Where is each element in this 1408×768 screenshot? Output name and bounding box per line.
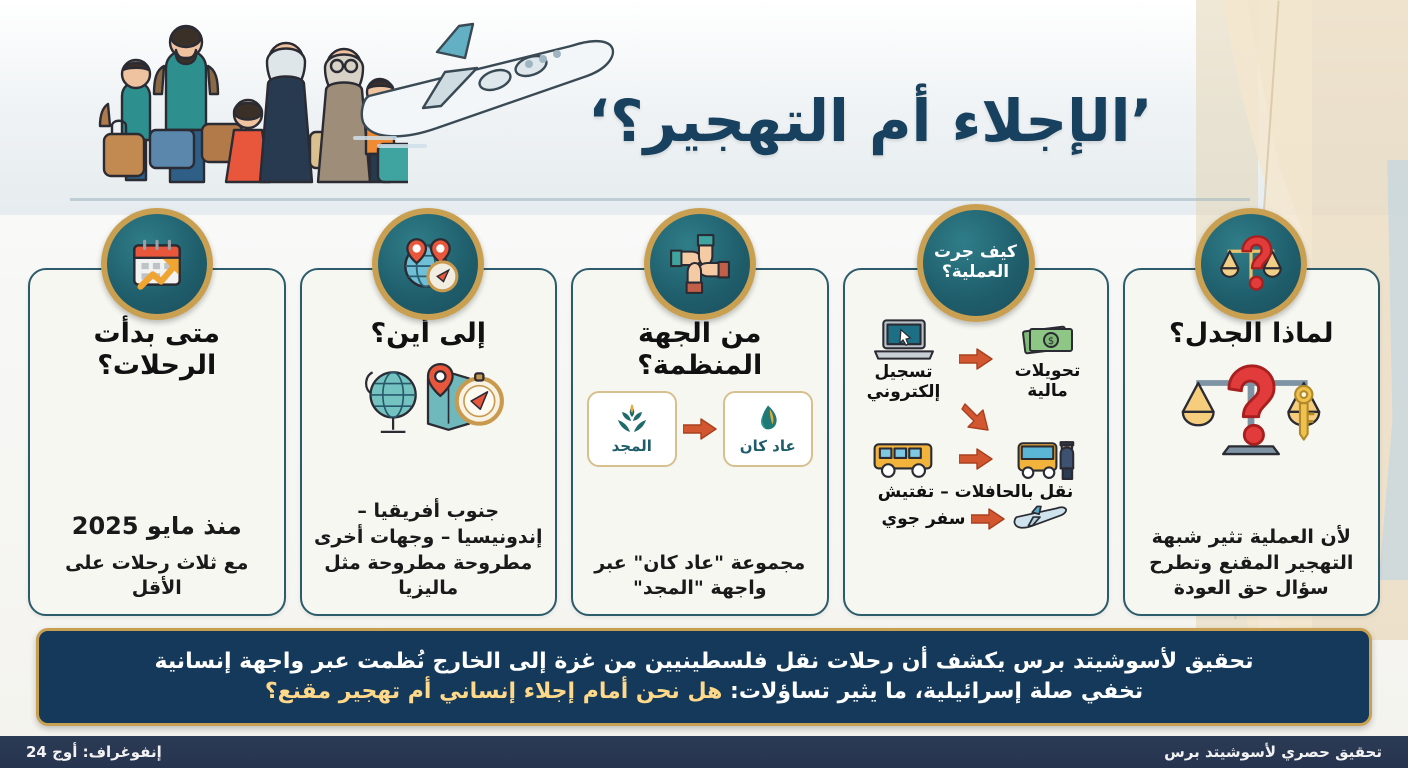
airplane-icon bbox=[1011, 504, 1069, 534]
four-hands-teamwork-icon bbox=[644, 208, 756, 320]
scales-question-key-icon bbox=[1167, 360, 1335, 460]
card-when-flights-started[interactable]: متى بدأت الرحلات؟ منذ مايو 2025 مع ثلاث … bbox=[28, 268, 286, 616]
horizon-line bbox=[70, 198, 1250, 201]
calendar-growth-icon bbox=[101, 208, 213, 320]
organizer-logos: المجد عاد كان bbox=[587, 391, 813, 467]
card-title: متى بدأت الرحلات؟ bbox=[40, 318, 274, 383]
card-organizer[interactable]: من الجهة المنظمة؟ المجد bbox=[571, 268, 829, 616]
flow-row-2 bbox=[855, 438, 1097, 480]
arrow-right-icon bbox=[959, 448, 993, 470]
process-badge: كيف جرت العملية؟ bbox=[917, 204, 1035, 322]
flow-row-1: تسجيل إلكتروني $ bbox=[855, 316, 1097, 402]
infographic-canvas: ’الإجلاء أم التهجير؟‘ متى بدأت الرحلات؟ … bbox=[0, 0, 1408, 768]
flow-row-4: سفر جوي bbox=[855, 504, 1097, 534]
flow-step-bus bbox=[855, 438, 953, 480]
page-title: ’الإجلاء أم التهجير؟‘ bbox=[588, 87, 1328, 155]
card-body: مجموعة "عاد كان" عبر واجهة "المجد" bbox=[583, 551, 817, 602]
globe-map-compass-icon bbox=[344, 360, 512, 442]
card-body: لأن العملية تثير شبهة التهجير المقنع وتط… bbox=[1135, 525, 1369, 602]
laptop-cursor-icon bbox=[873, 316, 935, 362]
scales-question-mark-icon bbox=[1195, 208, 1307, 320]
money-banknotes-icon: $ bbox=[1017, 317, 1079, 361]
arrow-right-icon bbox=[683, 418, 717, 440]
card-title: من الجهة المنظمة؟ bbox=[583, 318, 817, 383]
process-flow: تسجيل إلكتروني $ bbox=[855, 316, 1097, 534]
flow-label: سفر جوي bbox=[882, 509, 966, 529]
card-body: منذ مايو 2025 مع ثلاث رحلات على الأقل bbox=[40, 510, 274, 602]
arrow-right-icon bbox=[959, 348, 993, 370]
svg-text:$: $ bbox=[1047, 336, 1053, 347]
cards-row: متى بدأت الرحلات؟ منذ مايو 2025 مع ثلاث … bbox=[28, 268, 1380, 616]
flow-label: تحويلات مالية bbox=[999, 362, 1097, 401]
arrow-right-icon bbox=[971, 508, 1005, 530]
banner-line-2-prefix: تخفي صلة إسرائيلية، ما يثير تساؤلات: bbox=[722, 679, 1143, 704]
footer-bar: تحقيق حصري لأسوشيتد برس إنفوغراف: أوج 24 bbox=[0, 736, 1408, 768]
banner-line-2-highlight: هل نحن أمام إجلاء إنساني أم تهجير مقنع؟ bbox=[265, 679, 722, 704]
flow-step-checkpoint bbox=[999, 438, 1097, 480]
bus-with-officer-icon bbox=[1014, 438, 1082, 480]
card-body-text: مع ثلاث رحلات على الأقل bbox=[65, 552, 248, 600]
footer-credit-right: تحقيق حصري لأسوشيتد برس bbox=[1164, 743, 1382, 761]
card-process[interactable]: كيف جرت العملية؟ تسجيل إلكتروني bbox=[843, 268, 1109, 616]
al-majd-logo: المجد bbox=[587, 391, 677, 467]
summary-banner: تحقيق لأسوشيتد برس يكشف أن رحلات نقل فلس… bbox=[36, 628, 1372, 726]
card-destinations[interactable]: إلى أين؟ bbox=[300, 268, 558, 616]
flow-row-3: نقل بالحافلات – تفتيش bbox=[855, 482, 1097, 502]
globe-compass-pin-icon bbox=[372, 208, 484, 320]
arrow-down-icon bbox=[961, 402, 991, 436]
aad-kan-logo: عاد كان bbox=[723, 391, 813, 467]
flow-step-money: $ تحويلات مالية bbox=[999, 317, 1097, 401]
logo-label: عاد كان bbox=[740, 437, 796, 455]
yellow-bus-icon bbox=[870, 438, 938, 480]
footer-credit-left: إنفوغراف: أوج 24 bbox=[26, 743, 162, 761]
card-body-lead: منذ مايو 2025 bbox=[40, 510, 274, 542]
flow-label: تسجيل إلكتروني bbox=[855, 363, 953, 402]
card-why-controversy[interactable]: لماذا الجدل؟ bbox=[1123, 268, 1381, 616]
flow-step-registration: تسجيل إلكتروني bbox=[855, 316, 953, 402]
card-body: جنوب أفريقيا – إندونيسيا – وجهات أخرى مط… bbox=[312, 499, 546, 602]
badge-label: كيف جرت العملية؟ bbox=[923, 243, 1029, 282]
card-title: إلى أين؟ bbox=[371, 318, 486, 350]
flow-label: نقل بالحافلات – تفتيش bbox=[878, 482, 1073, 502]
banner-line-1: تحقيق لأسوشيتد برس يكشف أن رحلات نقل فلس… bbox=[154, 649, 1253, 674]
card-title: لماذا الجدل؟ bbox=[1169, 318, 1333, 350]
logo-label: المجد bbox=[612, 437, 652, 455]
